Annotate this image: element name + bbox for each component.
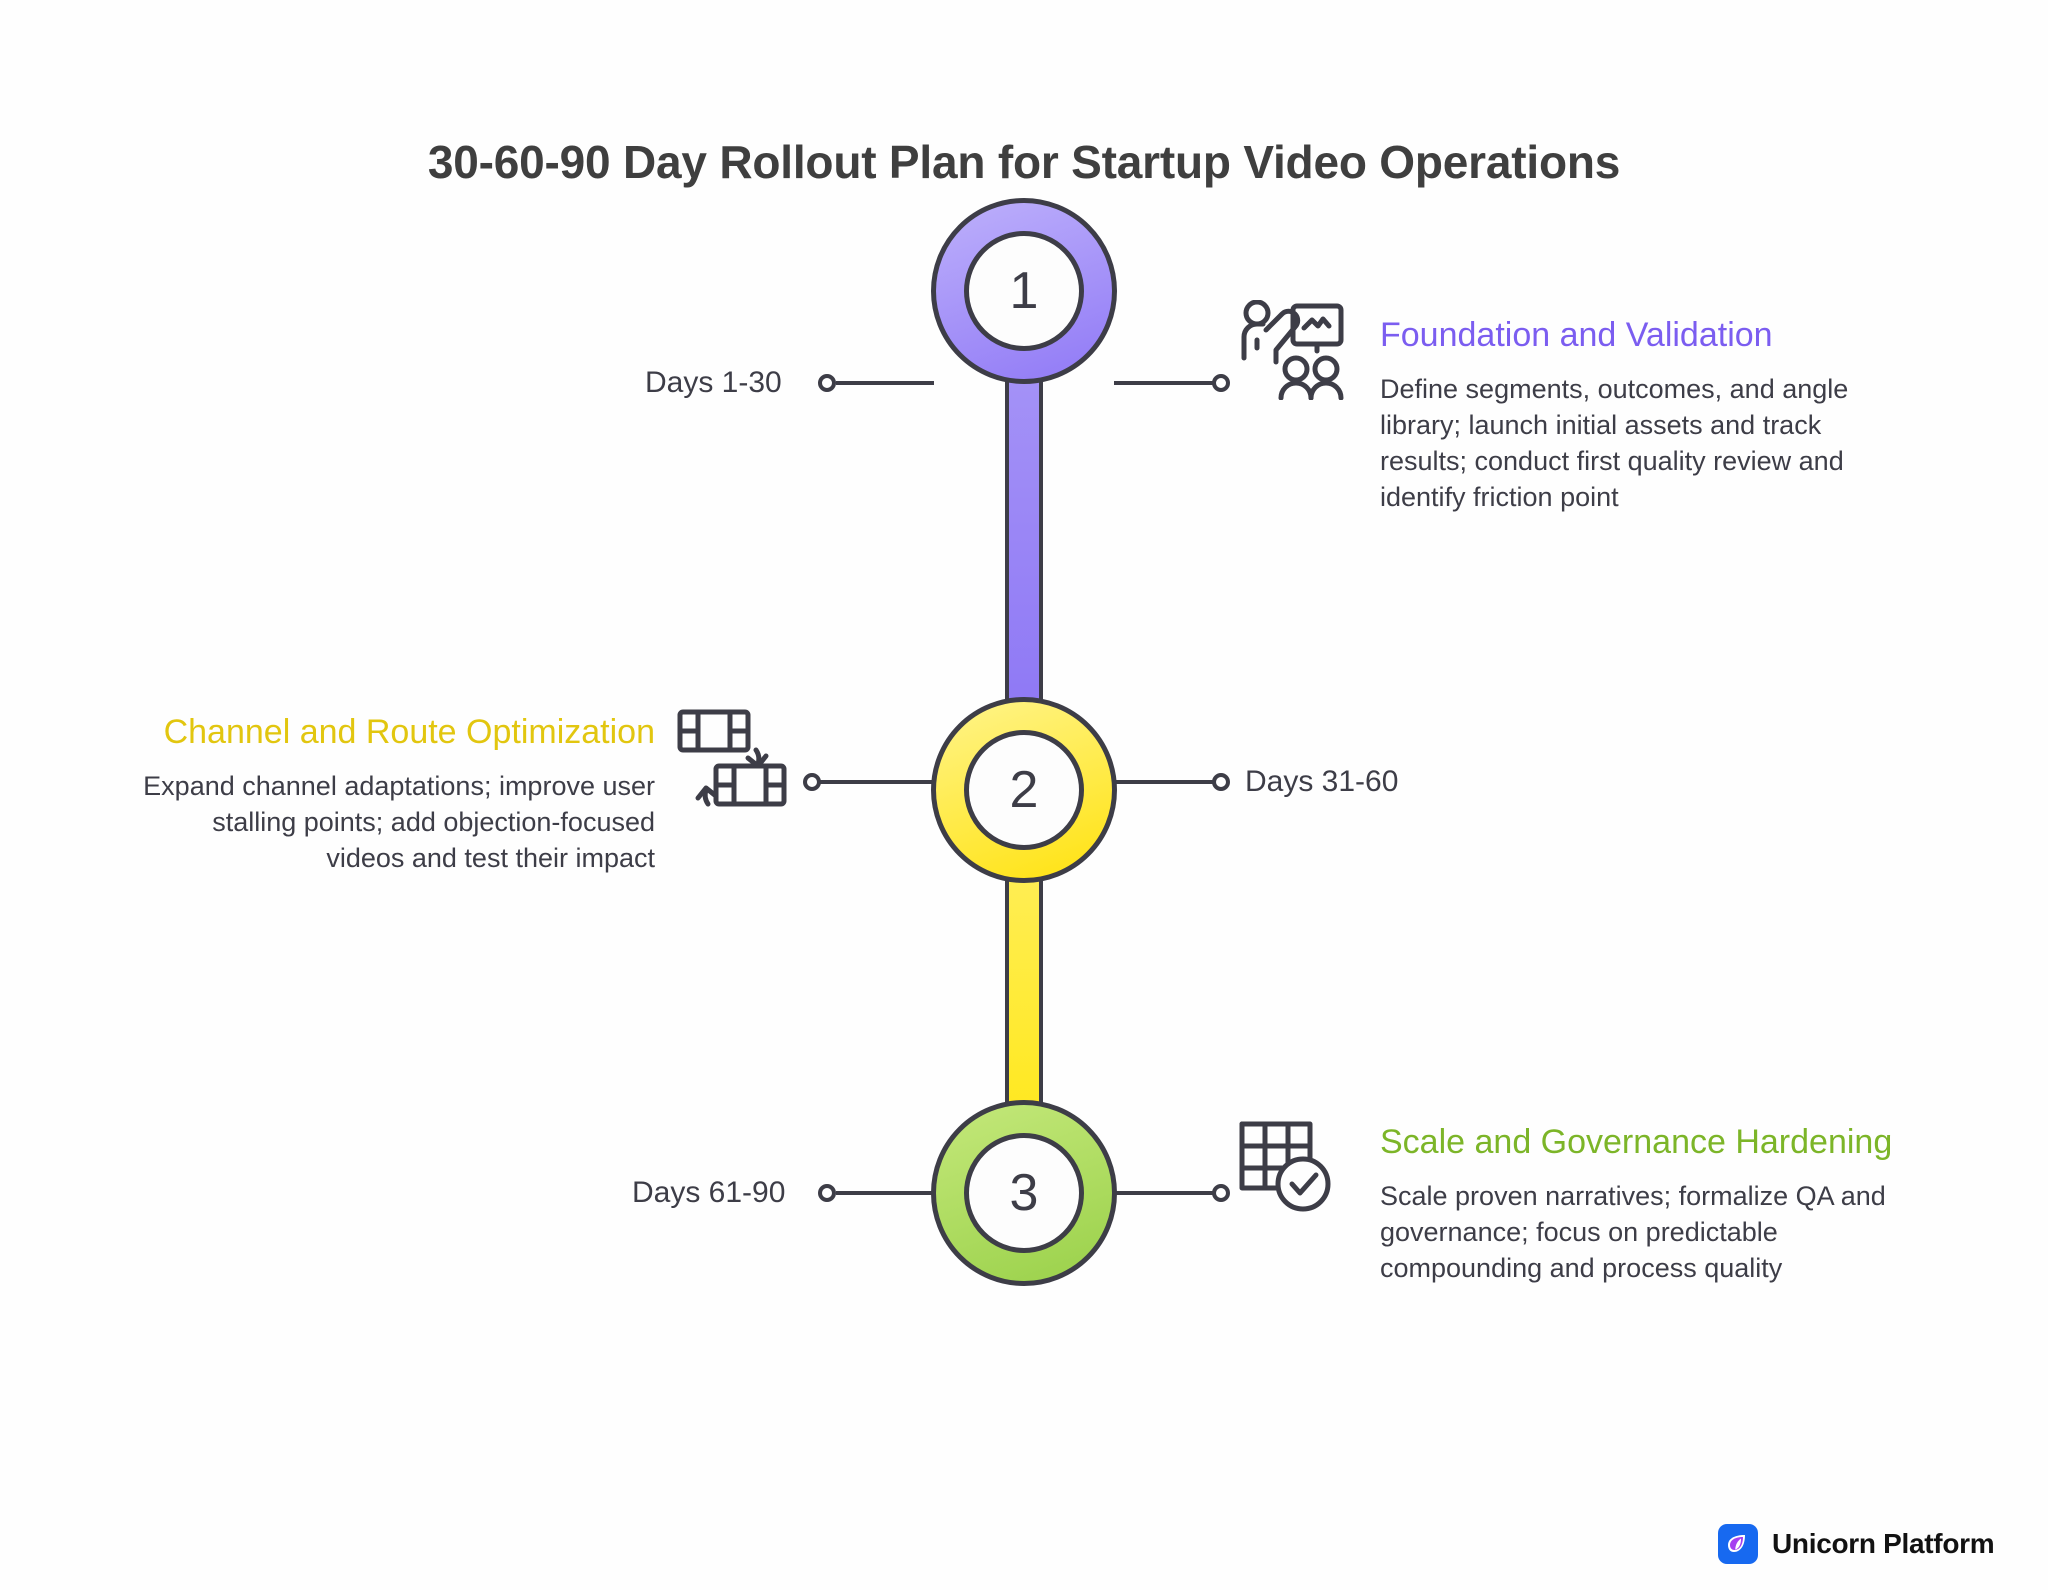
day-label-step-1: Days 1-30 — [645, 366, 782, 400]
connector-dot-step-1-right — [1212, 374, 1230, 392]
step-content-2: Channel and Route Optimization Expand ch… — [140, 712, 655, 877]
connector-dot-step-2-left — [803, 773, 821, 791]
step-body-3: Scale proven narratives; formalize QA an… — [1380, 1179, 1910, 1287]
connector-line-step-3-left — [836, 1191, 934, 1195]
step-heading-1: Foundation and Validation — [1380, 315, 1905, 356]
connector-line-step-3-right — [1114, 1191, 1214, 1195]
day-label-step-3: Days 61-90 — [632, 1176, 785, 1210]
presenter-audience-icon — [1238, 300, 1346, 405]
brand-name: Unicorn Platform — [1772, 1528, 1994, 1560]
step-content-1: Foundation and Validation Define segment… — [1380, 315, 1905, 516]
step-node-2[interactable]: 2 — [931, 697, 1117, 883]
step-number-1: 1 — [964, 231, 1084, 351]
step-body-2: Expand channel adaptations; improve user… — [140, 769, 655, 877]
connector-line-step-1-right — [1114, 381, 1214, 385]
connector-dot-step-1-left — [818, 374, 836, 392]
step-body-1: Define segments, outcomes, and angle lib… — [1380, 372, 1905, 516]
timeline-connector-1-2 — [1005, 360, 1043, 705]
unicorn-platform-mark-icon — [1718, 1524, 1758, 1564]
page-title: 30-60-90 Day Rollout Plan for Startup Vi… — [0, 135, 2048, 189]
connector-dot-step-2-right — [1212, 773, 1230, 791]
grid-check-icon — [1238, 1118, 1334, 1219]
connector-dot-step-3-right — [1212, 1184, 1230, 1202]
brand-logo: Unicorn Platform — [1718, 1524, 1994, 1564]
day-label-step-2: Days 31-60 — [1245, 765, 1398, 799]
connector-line-step-1-left — [836, 381, 934, 385]
connector-line-step-2-left — [820, 780, 934, 784]
connector-dot-step-3-left — [818, 1184, 836, 1202]
step-content-3: Scale and Governance Hardening Scale pro… — [1380, 1122, 1910, 1287]
step-heading-3: Scale and Governance Hardening — [1380, 1122, 1910, 1163]
infographic-canvas: 30-60-90 Day Rollout Plan for Startup Vi… — [0, 0, 2048, 1590]
step-number-2: 2 — [964, 730, 1084, 850]
film-swap-icon — [676, 706, 788, 815]
step-node-3[interactable]: 3 — [931, 1100, 1117, 1286]
step-number-3: 3 — [964, 1133, 1084, 1253]
step-node-1[interactable]: 1 — [931, 198, 1117, 384]
step-heading-2: Channel and Route Optimization — [140, 712, 655, 753]
connector-line-step-2-right — [1114, 780, 1214, 784]
